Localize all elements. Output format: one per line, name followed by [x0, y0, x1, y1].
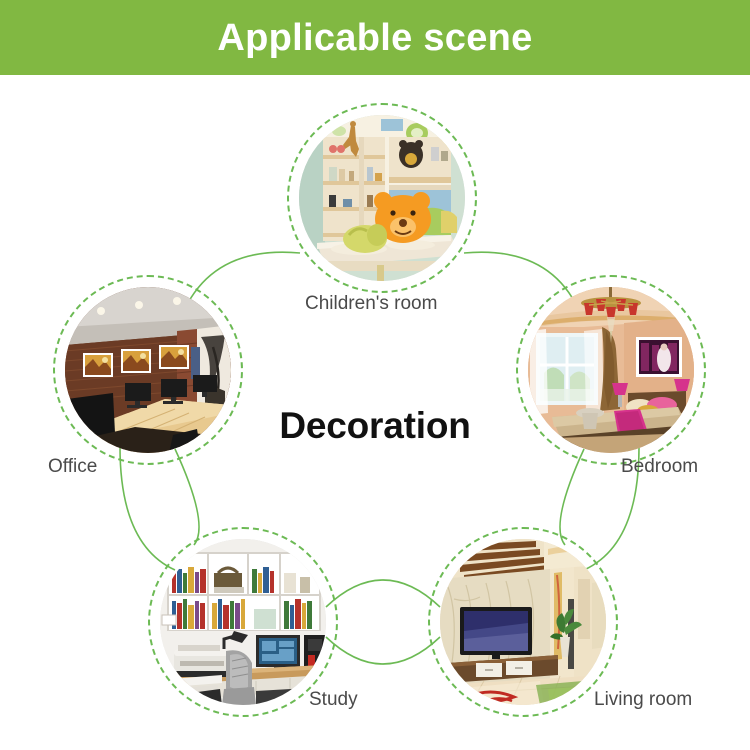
photo-children-room	[299, 115, 465, 281]
node-office[interactable]	[53, 275, 243, 465]
photo-study	[160, 539, 326, 705]
node-children-room[interactable]	[287, 103, 477, 293]
photo-bedroom	[528, 287, 694, 453]
photo-living-room	[440, 539, 606, 705]
header-banner: Applicable scene	[0, 0, 750, 75]
node-label-living-room: Living room	[594, 689, 692, 711]
node-label-study: Study	[309, 689, 358, 711]
page-title: Applicable scene	[217, 19, 532, 57]
diagram-area: Decoration	[0, 75, 750, 750]
node-label-bedroom: Bedroom	[621, 456, 698, 478]
node-living-room[interactable]	[428, 527, 618, 717]
photo-office	[65, 287, 231, 453]
node-label-office: Office	[48, 456, 97, 478]
node-label-children-room: Children's room	[305, 293, 437, 315]
node-bedroom[interactable]	[516, 275, 706, 465]
applicable-scene-infographic: Applicable scene	[0, 0, 750, 750]
